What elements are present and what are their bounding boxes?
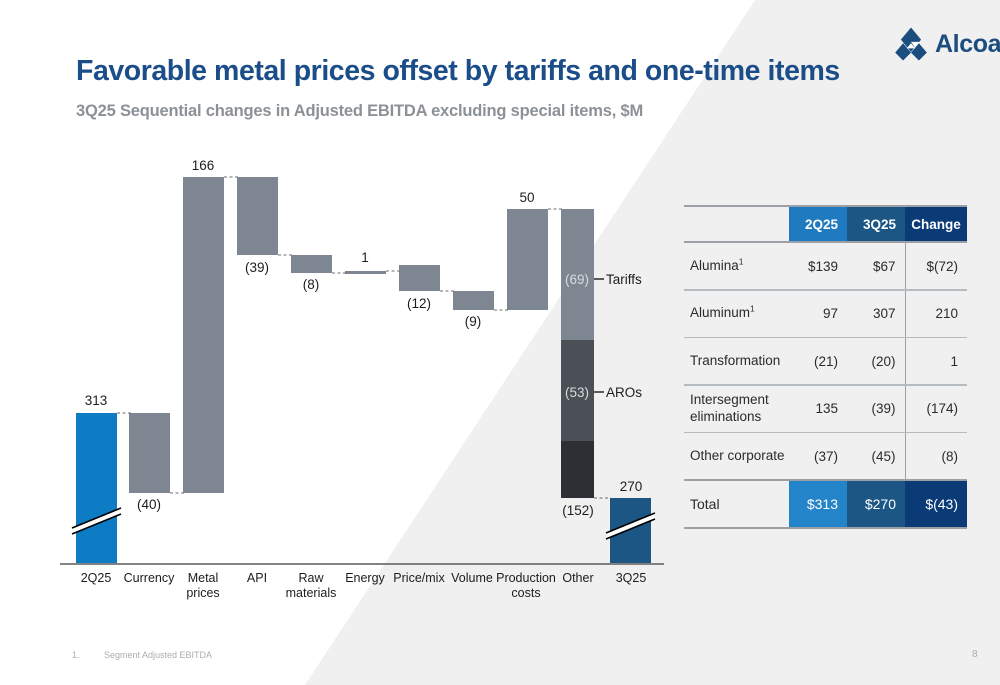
value-label-price-mix: (12) (407, 296, 431, 311)
waterfall-chart: 313 (40) 166 (39) (8) 1 (12) (9) 50 (152… (0, 0, 680, 615)
bar-currency (129, 413, 170, 493)
footnote-number: 1. (72, 650, 80, 660)
cell-aluminum-2q25: 97 (789, 291, 847, 337)
cat-label-production-costs: Production (496, 571, 556, 585)
cell-other-corporate-change: (8) (905, 433, 967, 479)
cat-label-currency: Currency (124, 571, 175, 585)
chart-category-labels: 2Q25 Currency Metal prices API Raw mater… (81, 571, 647, 600)
footnote-text: Segment Adjusted EBITDA (104, 650, 212, 660)
table-header-row: 2Q25 3Q25 Change (684, 207, 967, 241)
bar-other-segment-residual (561, 441, 594, 498)
cell-alumina-3q25: $67 (847, 243, 905, 289)
value-label-currency: (40) (137, 497, 161, 512)
row-label-transformation: Transformation (684, 338, 789, 384)
bar-metal-prices (183, 177, 224, 493)
bar-raw-materials (291, 255, 332, 273)
bar-api (237, 177, 278, 255)
cat-label-volume: Volume (451, 571, 493, 585)
cell-total-change: $(43) (905, 481, 967, 527)
cat-label-metal-prices-2: prices (186, 586, 219, 600)
value-label-api: (39) (245, 260, 269, 275)
cell-other-corporate-2q25: (37) (789, 433, 847, 479)
segment-ebitda-table: 2Q25 3Q25 Change Alumina1 $139 $67 $(72)… (684, 205, 967, 529)
cat-label-other: Other (562, 571, 593, 585)
value-label-other: (152) (562, 503, 594, 518)
table-total-row: Total $313 $270 $(43) (684, 481, 967, 527)
cat-label-raw-materials: Raw (298, 571, 324, 585)
alcoa-logo: Alcoa (893, 24, 993, 64)
table-header-change: Change (905, 207, 967, 241)
page-number: 8 (972, 649, 978, 660)
logo-wordmark: Alcoa (935, 32, 1000, 57)
cell-total-3q25: $270 (847, 481, 905, 527)
chart-callouts: Tariffs AROs (594, 272, 642, 400)
bar-2q25 (76, 413, 117, 563)
cell-transformation-2q25: (21) (789, 338, 847, 384)
row-label-total: Total (684, 481, 789, 527)
value-label-raw-materials: (8) (303, 277, 320, 292)
cell-other-corporate-3q25: (45) (847, 433, 905, 479)
cat-label-2q25: 2Q25 (81, 571, 112, 585)
cat-label-metal-prices: Metal (188, 571, 219, 585)
cell-aluminum-3q25: 307 (847, 291, 905, 337)
row-footnote-ref: 1 (750, 304, 755, 314)
cell-intersegment-change: (174) (905, 386, 967, 432)
cat-label-energy: Energy (345, 571, 385, 585)
cell-aluminum-change: 210 (905, 291, 967, 337)
row-label-aluminum: Aluminum1 (684, 291, 789, 337)
value-label-metal-prices: 166 (192, 158, 215, 173)
segment-label-tariffs-value: (69) (565, 272, 589, 287)
bar-production-costs (507, 209, 548, 310)
cell-intersegment-3q25: (39) (847, 386, 905, 432)
cat-label-price-mix: Price/mix (393, 571, 445, 585)
row-label-other-corporate: Other corporate (684, 433, 789, 479)
row-label-intersegment-eliminations: Intersegment eliminations (684, 386, 789, 432)
value-label-3q25: 270 (620, 479, 643, 494)
table-row: Intersegment eliminations 135 (39) (174) (684, 386, 967, 432)
bar-energy (345, 271, 386, 274)
cat-label-3q25: 3Q25 (616, 571, 647, 585)
table-rule (684, 527, 967, 529)
alcoa-diamond-logo-icon (893, 26, 929, 62)
page-title: Favorable metal prices offset by tariffs… (76, 55, 840, 88)
cat-label-api: API (247, 571, 267, 585)
table-row: Other corporate (37) (45) (8) (684, 433, 967, 479)
value-label-volume: (9) (465, 314, 482, 329)
callout-label-aros: AROs (606, 385, 642, 400)
cell-total-2q25: $313 (789, 481, 847, 527)
row-label-alumina: Alumina1 (684, 243, 789, 289)
segment-label-aros-value: (53) (565, 385, 589, 400)
cell-intersegment-2q25: 135 (789, 386, 847, 432)
cell-transformation-3q25: (20) (847, 338, 905, 384)
cell-alumina-change: $(72) (905, 243, 967, 289)
row-footnote-ref: 1 (739, 256, 744, 266)
cell-transformation-change: 1 (905, 338, 967, 384)
value-label-2q25: 313 (85, 393, 108, 408)
row-label-text: Aluminum (690, 305, 750, 320)
row-label-text: Alumina (690, 258, 739, 273)
value-label-energy: 1 (361, 250, 369, 265)
bar-price-mix (399, 265, 440, 291)
table-header-blank (684, 207, 789, 241)
table-header-3q25: 3Q25 (847, 207, 905, 241)
table-row: Alumina1 $139 $67 $(72) (684, 243, 967, 289)
page-subtitle: 3Q25 Sequential changes in Adjusted EBIT… (76, 102, 643, 121)
cat-label-raw-materials-2: materials (286, 586, 337, 600)
slide: Alcoa Favorable metal prices offset by t… (0, 0, 1000, 685)
callout-label-tariffs: Tariffs (606, 272, 642, 287)
table-row: Transformation (21) (20) 1 (684, 338, 967, 384)
cat-label-production-costs-2: costs (511, 586, 540, 600)
cell-alumina-2q25: $139 (789, 243, 847, 289)
table-row: Aluminum1 97 307 210 (684, 291, 967, 337)
table-header-2q25: 2Q25 (789, 207, 847, 241)
value-label-production-costs: 50 (519, 190, 534, 205)
bar-volume (453, 291, 494, 310)
